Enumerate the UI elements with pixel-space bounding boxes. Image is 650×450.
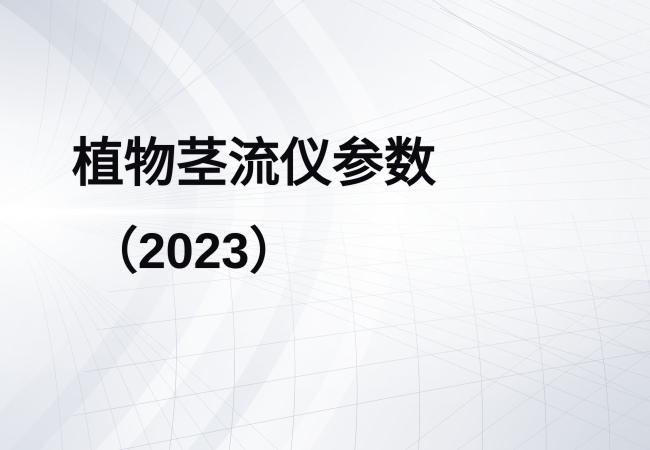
title-slide: 植物茎流仪参数 （2023） (0, 0, 650, 450)
slide-title-primary: 植物茎流仪参数 (72, 133, 436, 195)
slide-title-block: 植物茎流仪参数 （2023） (0, 0, 650, 450)
slide-title-year: （2023） (88, 220, 299, 282)
